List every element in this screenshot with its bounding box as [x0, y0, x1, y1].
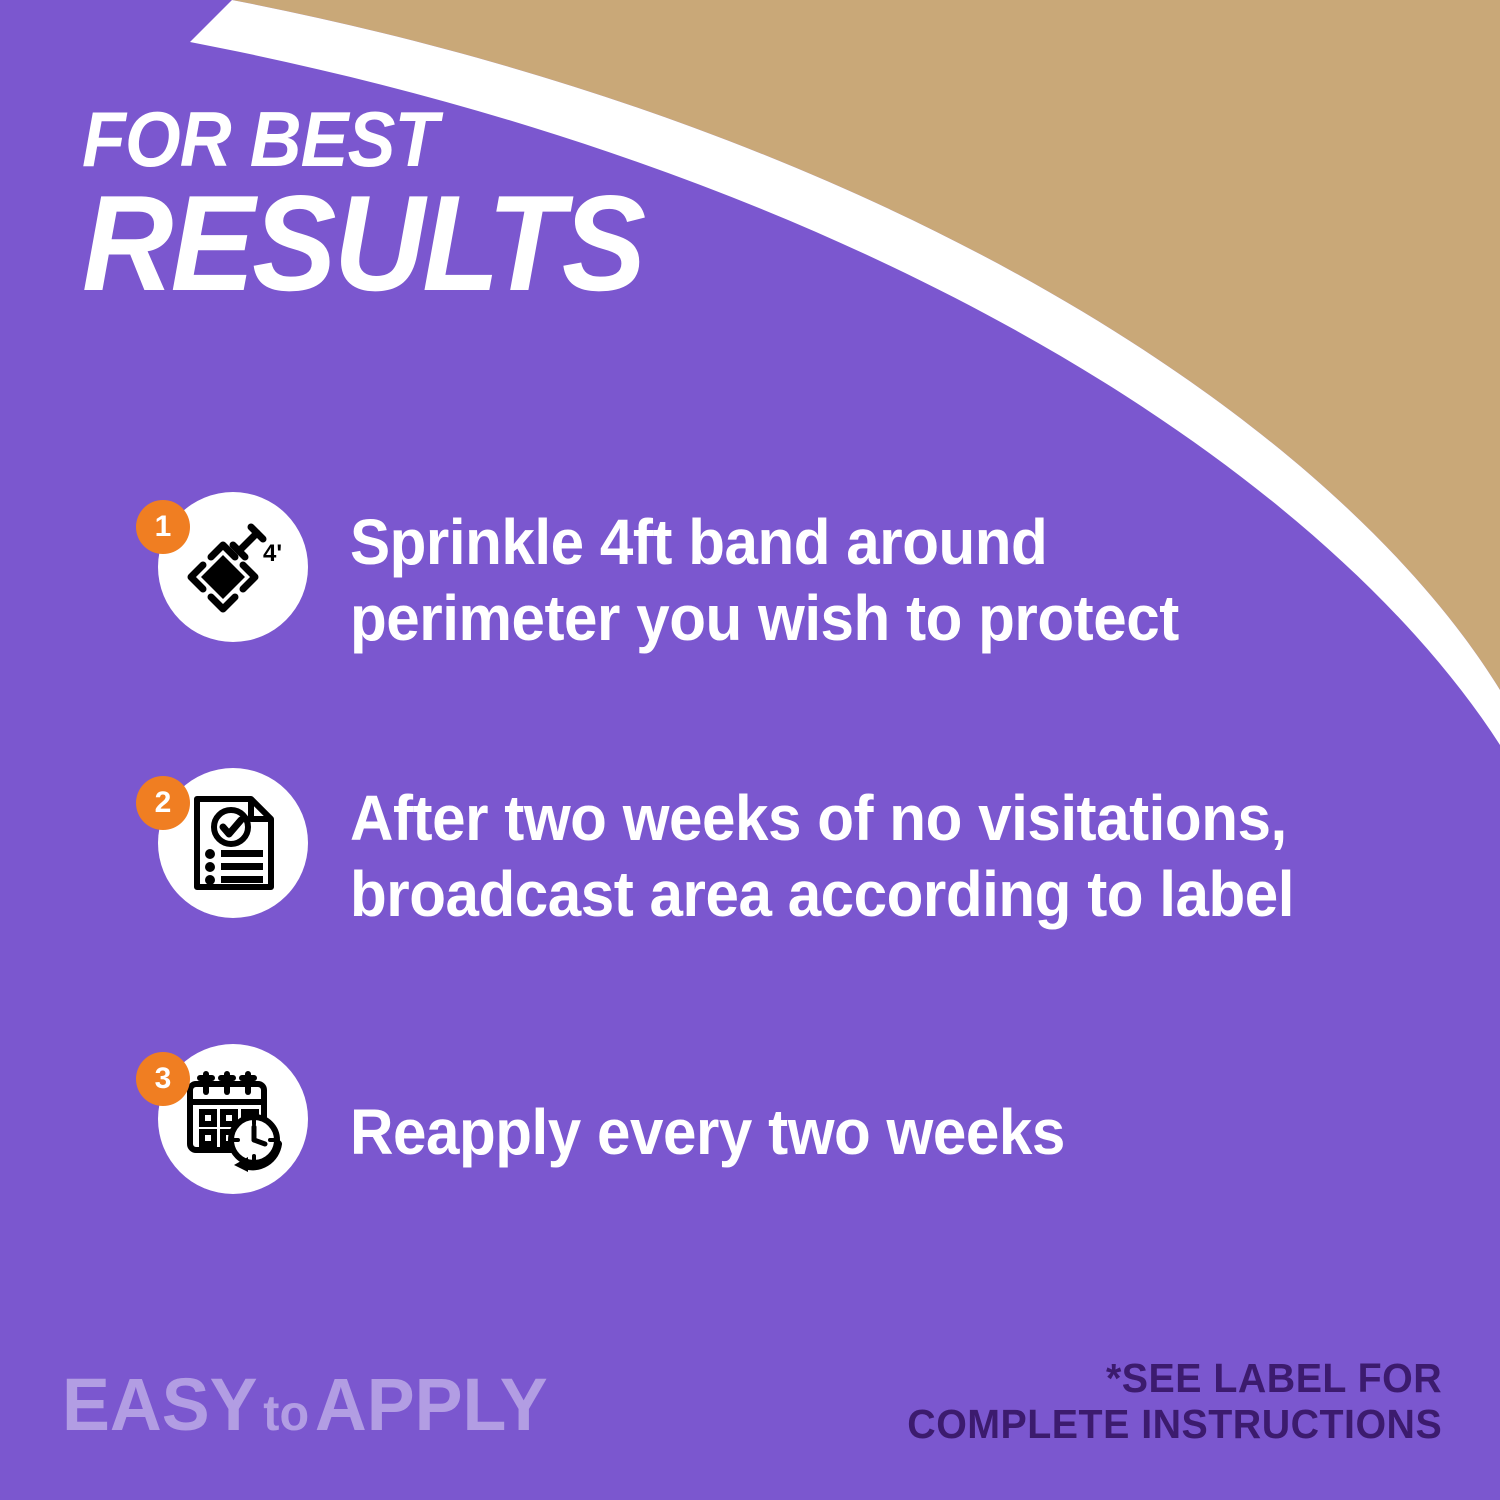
headline-line-2: RESULTS — [82, 182, 1012, 304]
list-line-1 — [221, 850, 263, 857]
bullet-1 — [205, 849, 215, 859]
step-item-3: 3 — [130, 1044, 1460, 1222]
step-2-icon-group: 2 — [130, 768, 308, 946]
easy-to-apply-tagline: EASYtoAPPLY — [62, 1368, 548, 1442]
step-3-text: Reapply every two weeks — [350, 1095, 1065, 1171]
step-2-number-badge: 2 — [136, 776, 190, 830]
filled-diamond-shape — [201, 555, 245, 599]
step-3-text-line-1: Reapply every two weeks — [350, 1095, 1065, 1171]
step-1-text-line-2: perimeter you wish to protect — [350, 581, 1179, 657]
step-1-text: Sprinkle 4ft band around perimeter you w… — [350, 505, 1179, 656]
step-3-number-badge: 3 — [136, 1052, 190, 1106]
step-item-2: 2 — [130, 768, 1460, 946]
see-label-disclaimer: *SEE LABEL FOR COMPLETE INSTRUCTIONS — [907, 1355, 1442, 1448]
steps-list: 1 — [130, 492, 1460, 1222]
checklist-document-icon — [181, 791, 285, 895]
step-2-text: After two weeks of no visitations, broad… — [350, 781, 1294, 932]
list-line-3 — [221, 876, 263, 883]
content-layer: FOR BEST RESULTS 1 — [0, 0, 1500, 1500]
bullet-2 — [205, 862, 215, 872]
step-2-text-line-1: After two weeks of no visitations, — [350, 781, 1294, 857]
disclaimer-line-1: *SEE LABEL FOR — [907, 1355, 1442, 1402]
step-1-number-badge: 1 — [136, 500, 190, 554]
measure-label-4ft: 4' — [263, 540, 282, 567]
step-3-icon-group: 3 — [130, 1044, 308, 1222]
for-best-results-poster: FOR BEST RESULTS 1 — [0, 0, 1500, 1500]
page-title: FOR BEST RESULTS — [82, 104, 1082, 304]
step-item-1: 1 — [130, 492, 1460, 670]
disclaimer-line-2: COMPLETE INSTRUCTIONS — [907, 1401, 1442, 1448]
calendar-clock-recurring-icon — [178, 1064, 288, 1174]
step-1-text-line-1: Sprinkle 4ft band around — [350, 505, 1179, 581]
tagline-word-apply: APPLY — [315, 1363, 548, 1446]
tagline-word-to: to — [257, 1385, 314, 1441]
perimeter-band-measure-icon: 4' — [177, 511, 289, 623]
headline-line-1: FOR BEST — [82, 104, 1002, 176]
list-line-2 — [221, 863, 263, 870]
bullet-3 — [205, 875, 215, 885]
step-2-text-line-2: broadcast area according to label — [350, 857, 1294, 933]
step-1-icon-group: 1 — [130, 492, 308, 670]
tagline-word-easy: EASY — [62, 1363, 257, 1446]
